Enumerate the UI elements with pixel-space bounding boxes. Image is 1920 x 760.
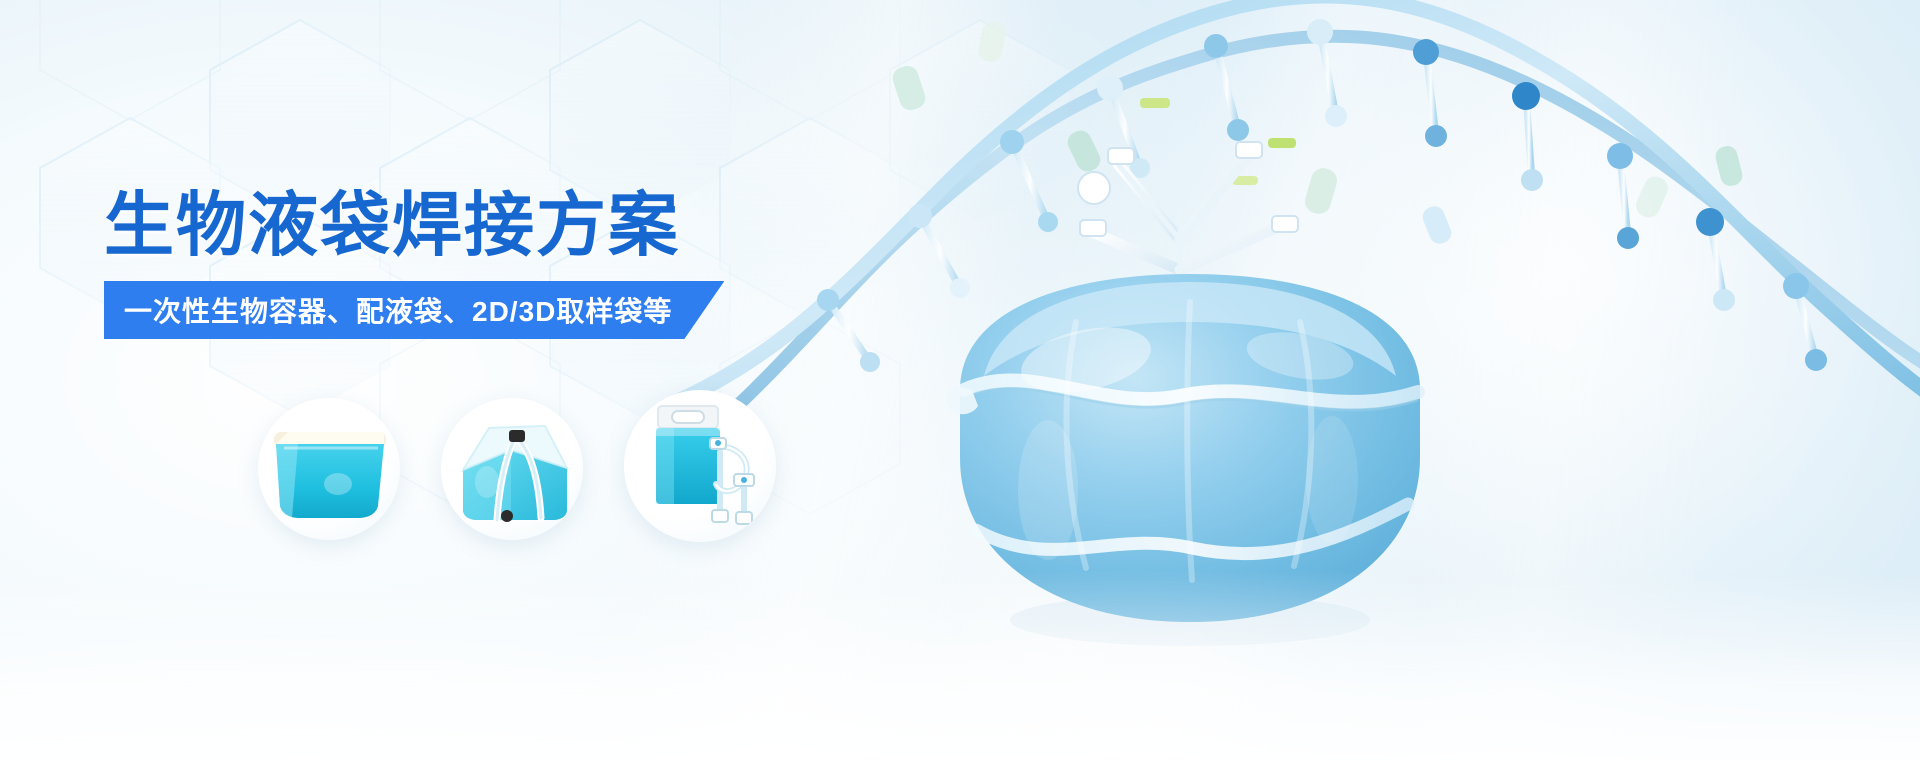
background-wash: [0, 0, 1920, 760]
flat-liquid-bag-icon: [258, 398, 400, 540]
cube-bag-with-tubing-icon: [441, 398, 583, 540]
product-thumb-2d-bag[interactable]: [258, 398, 400, 540]
subtitle-text: 一次性生物容器、配液袋、2D/3D取样袋等: [124, 290, 672, 330]
product-thumb-3d-bag[interactable]: [441, 398, 583, 540]
hero-banner: 生物液袋焊接方案 一次性生物容器、配液袋、2D/3D取样袋等: [0, 0, 1920, 760]
light-beams: [0, 0, 1920, 760]
hero-bioprocess-bag: [880, 60, 1500, 680]
product-thumbnails: [258, 390, 828, 550]
sampling-bag-with-tube-set-icon: [624, 390, 776, 542]
page-title: 生物液袋焊接方案: [104, 186, 680, 264]
product-thumb-sampling-bag[interactable]: [624, 390, 776, 542]
bottom-fade: [0, 570, 1920, 760]
subtitle-banner: 一次性生物容器、配液袋、2D/3D取样袋等: [104, 281, 724, 339]
soft-glow: [1000, 0, 1920, 760]
